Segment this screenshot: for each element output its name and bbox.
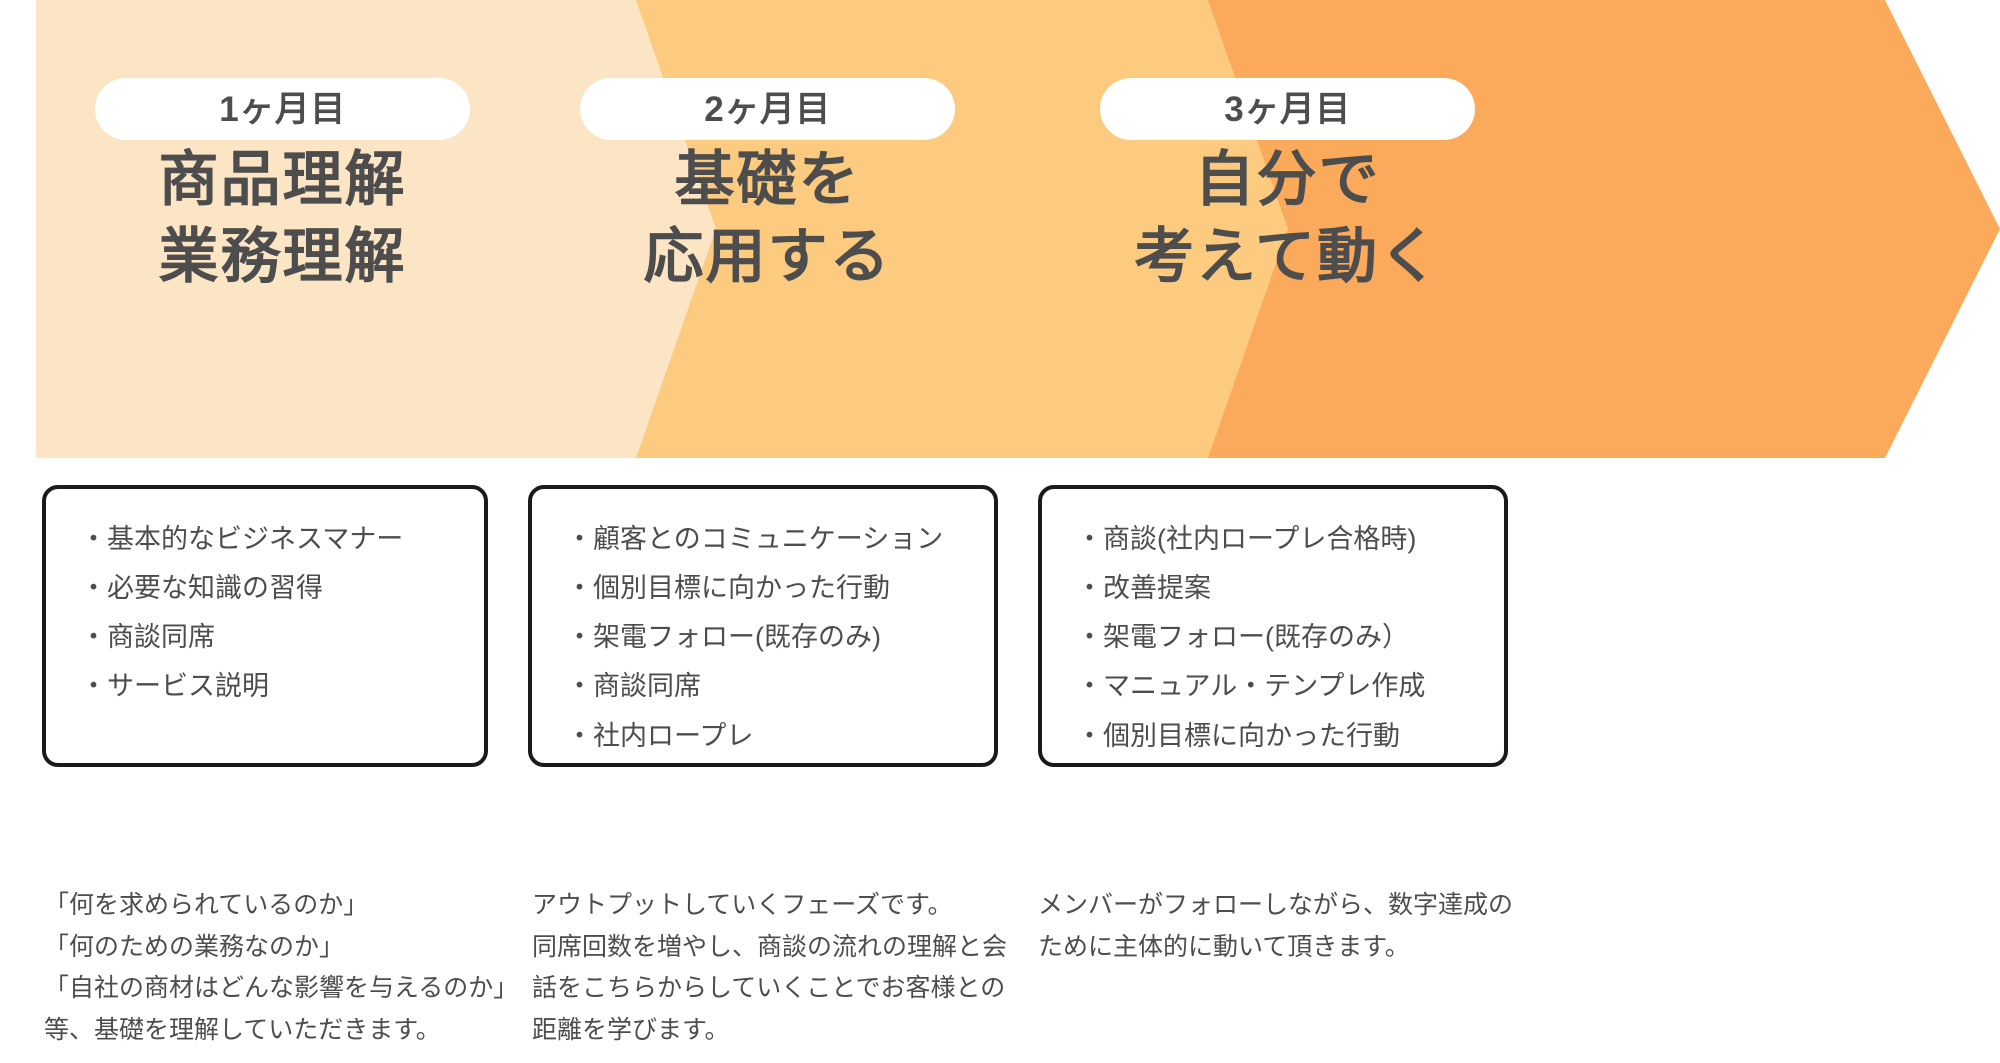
month-badge-label-2: 2ヶ月目 <box>704 92 830 127</box>
phase-caption-3: メンバーがフォローしながら、数字達成の ために主体的に動いて頂きます。 <box>1038 885 1678 968</box>
phase-title-3: 自分で 考えて動く <box>1100 142 1475 296</box>
list-item: 社内ロープレ <box>566 712 968 761</box>
list-item: 必要な知識の習得 <box>80 564 458 613</box>
month-badge-2: 2ヶ月目 <box>580 78 955 140</box>
list-item: 商談同席 <box>80 613 458 662</box>
month-badge-label-1: 1ヶ月目 <box>219 92 345 127</box>
list-item: 個別目標に向かった行動 <box>1076 712 1478 761</box>
task-list-3: 商談(社内ロープレ合格時) 改善提案 架電フォロー(既存のみ） マニュアル・テン… <box>1076 515 1478 761</box>
list-item: 商談(社内ロープレ合格時) <box>1076 515 1478 564</box>
list-item: 改善提案 <box>1076 564 1478 613</box>
task-card-2: 顧客とのコミュニケーション 個別目標に向かった行動 架電フォロー(既存のみ) 商… <box>528 485 998 767</box>
phase-title-2: 基礎を 応用する <box>580 142 955 296</box>
phase-title-1: 商品理解 業務理解 <box>95 142 470 296</box>
month-badge-1: 1ヶ月目 <box>95 78 470 140</box>
task-list-2: 顧客とのコミュニケーション 個別目標に向かった行動 架電フォロー(既存のみ) 商… <box>566 515 968 761</box>
task-card-1: 基本的なビジネスマナー 必要な知識の習得 商談同席 サービス説明 <box>42 485 488 767</box>
list-item: 商談同席 <box>566 662 968 711</box>
list-item: 基本的なビジネスマナー <box>80 515 458 564</box>
task-card-3: 商談(社内ロープレ合格時) 改善提案 架電フォロー(既存のみ） マニュアル・テン… <box>1038 485 1508 767</box>
list-item: 架電フォロー(既存のみ) <box>566 613 968 662</box>
list-item: 個別目標に向かった行動 <box>566 564 968 613</box>
list-item: マニュアル・テンプレ作成 <box>1076 662 1478 711</box>
onboarding-roadmap-infographic: 1ヶ月目 2ヶ月目 3ヶ月目 商品理解 業務理解 基礎を 応用する 自分で 考え… <box>0 0 2000 1063</box>
list-item: サービス説明 <box>80 662 458 711</box>
month-badge-label-3: 3ヶ月目 <box>1224 92 1350 127</box>
month-badge-3: 3ヶ月目 <box>1100 78 1475 140</box>
list-item: 架電フォロー(既存のみ） <box>1076 613 1478 662</box>
list-item: 顧客とのコミュニケーション <box>566 515 968 564</box>
task-list-1: 基本的なビジネスマナー 必要な知識の習得 商談同席 サービス説明 <box>80 515 458 712</box>
